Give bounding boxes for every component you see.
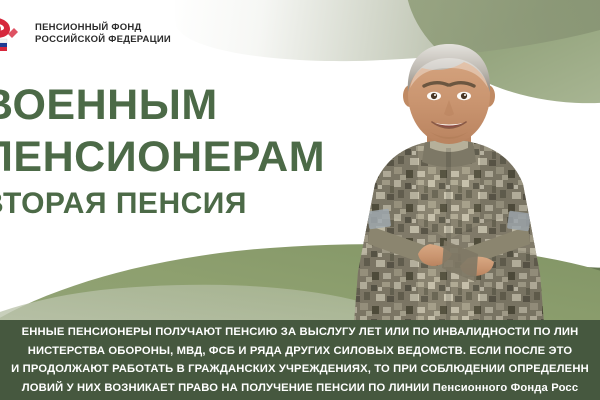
headline-line-1: ВОЕННЫМ	[0, 84, 325, 127]
info-banner-line-3: И ПРОДОЛЖАЮТ РАБОТАТЬ В ГРАЖДАНСКИХ УЧРЕ…	[0, 360, 600, 379]
military-pensioner-photo	[326, 44, 572, 324]
pension-fund-emblem-icon	[0, 14, 28, 54]
promo-banner: ПЕНСИОННЫЙ ФОНД РОССИЙСКОЙ ФЕДЕРАЦИИ ВОЕ…	[0, 0, 600, 400]
pension-fund-logo: ПЕНСИОННЫЙ ФОНД РОССИЙСКОЙ ФЕДЕРАЦИИ	[0, 14, 171, 54]
info-banner-line-1: ЕННЫЕ ПЕНСИОНЕРЫ ПОЛУЧАЮТ ПЕНСИЮ ЗА ВЫСЛ…	[0, 323, 600, 342]
info-banner-line-2: НИСТЕРСТВА ОБОРОНЫ, МВД, ФСБ И РЯДА ДРУГ…	[0, 342, 600, 361]
headline-line-3: ВТОРАЯ ПЕНСИЯ	[0, 189, 325, 219]
headline: ВОЕННЫМ ПЕНСИОНЕРАМ ВТОРАЯ ПЕНСИЯ	[0, 84, 325, 219]
logo-line-1: ПЕНСИОННЫЙ ФОНД	[35, 22, 171, 34]
info-banner-line-4: ЛОВИЙ У НИХ ВОЗНИКАЕТ ПРАВО НА ПОЛУЧЕНИЕ…	[0, 379, 600, 398]
headline-line-2: ПЕНСИОНЕРАМ	[0, 136, 325, 179]
info-banner: ЕННЫЕ ПЕНСИОНЕРЫ ПОЛУЧАЮТ ПЕНСИЮ ЗА ВЫСЛ…	[0, 320, 600, 400]
logo-text: ПЕНСИОННЫЙ ФОНД РОССИЙСКОЙ ФЕДЕРАЦИИ	[35, 22, 171, 46]
logo-line-2: РОССИЙСКОЙ ФЕДЕРАЦИИ	[35, 34, 171, 46]
